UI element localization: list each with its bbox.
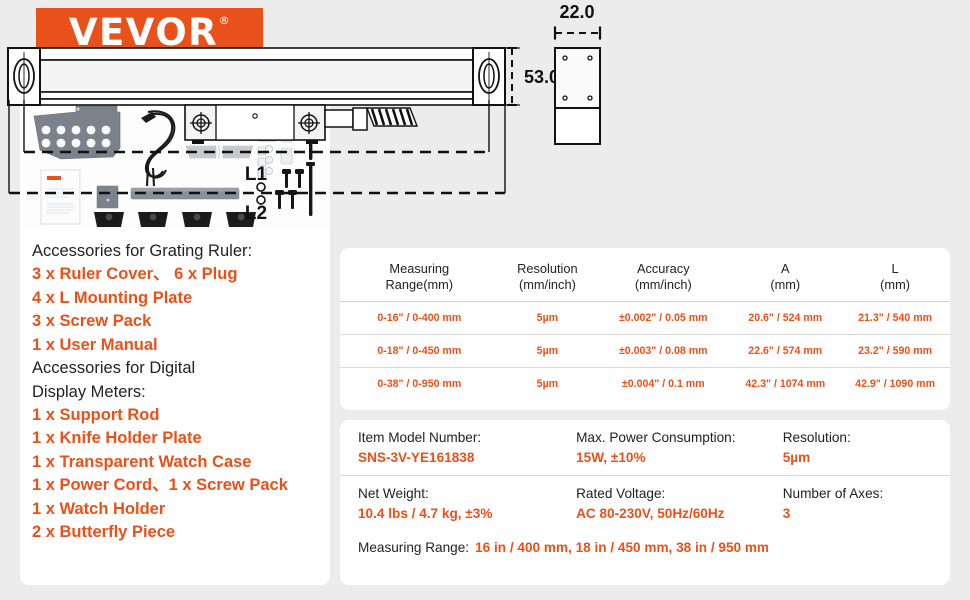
- list-item: 1 x Knife Holder Plate: [32, 427, 324, 450]
- column-header-accuracy: Accuracy (mm/inch): [596, 254, 730, 302]
- accessories-list: Accessories for Grating Ruler: 3 x Ruler…: [32, 240, 324, 544]
- list-item: 1 x Transparent Watch Case: [32, 451, 324, 474]
- dimension-L1-label: L1: [245, 164, 268, 185]
- list-item: 4 x L Mounting Plate: [32, 287, 324, 310]
- info-label: Item Model Number:: [358, 429, 576, 447]
- accessories-heading-digital-display-line2: Display Meters:: [32, 381, 324, 404]
- info-item-rated-voltage: Rated Voltage: AC 80-230V, 50Hz/60Hz: [576, 476, 783, 531]
- list-item: 1 x Support Rod: [32, 404, 324, 427]
- list-item: 1 x Watch Holder: [32, 498, 324, 521]
- dimension-width: 22.0: [555, 2, 600, 40]
- info-item-number-of-axes: Number of Axes: 3: [783, 476, 932, 531]
- scale-body: [8, 48, 505, 105]
- cell-measuring-range: 0-16" / 0-400 mm: [340, 302, 499, 335]
- dimension-height: 53.0: [505, 48, 559, 105]
- table-row: 0-16" / 0-400 mm 5µm ±0.002" / 0.05 mm 2…: [340, 302, 950, 335]
- accessories-heading-grating-ruler: Accessories for Grating Ruler:: [32, 240, 324, 263]
- cell-measuring-range: 0-38" / 0-950 mm: [340, 368, 499, 401]
- info-value: SNS-3V-YE161838: [358, 449, 576, 467]
- list-item: 3 x Ruler Cover、 6 x Plug: [32, 263, 324, 286]
- info-value: 3: [783, 505, 932, 523]
- info-value: 10.4 lbs / 4.7 kg, ±3%: [358, 505, 576, 523]
- cell-resolution: 5µm: [499, 368, 597, 401]
- cell-l: 21.3" / 540 mm: [840, 302, 950, 335]
- column-header-line1: A: [732, 261, 838, 277]
- cell-a: 22.6" / 574 mm: [730, 335, 840, 368]
- info-label: Resolution:: [783, 429, 932, 447]
- cell-accuracy: ±0.004" / 0.1 mm: [596, 368, 730, 401]
- product-info-card: Item Model Number: SNS-3V-YE161838 Max. …: [340, 420, 950, 585]
- column-header-line2: (mm/inch): [501, 277, 595, 293]
- cell-measuring-range: 0-18" / 0-450 mm: [340, 335, 499, 368]
- table-header-row: Measuring Range(mm) Resolution (mm/inch)…: [340, 254, 950, 302]
- specification-table-card: Measuring Range(mm) Resolution (mm/inch)…: [340, 248, 950, 410]
- dimension-width-label: 22.0: [559, 2, 594, 22]
- list-item: 1 x Power Cord、1 x Screw Pack: [32, 474, 324, 497]
- cell-accuracy: ±0.003" / 0.08 mm: [596, 335, 730, 368]
- column-header-resolution: Resolution (mm/inch): [499, 254, 597, 302]
- info-item-resolution: Resolution: 5µm: [783, 420, 932, 475]
- info-value: 16 in / 400 mm, 18 in / 450 mm, 38 in / …: [475, 540, 769, 555]
- end-view-bracket: [555, 48, 600, 144]
- cell-a: 42.3" / 1074 mm: [730, 368, 840, 401]
- table-row: 0-38" / 0-950 mm 5µm ±0.004" / 0.1 mm 42…: [340, 368, 950, 401]
- info-label: Measuring Range:: [358, 540, 469, 555]
- info-row-measuring-range: Measuring Range: 16 in / 400 mm, 18 in /…: [340, 531, 950, 555]
- info-row-1: Item Model Number: SNS-3V-YE161838 Max. …: [340, 420, 950, 475]
- dimension-height-label: 53.0: [524, 67, 559, 87]
- cell-accuracy: ±0.002" / 0.05 mm: [596, 302, 730, 335]
- cell-resolution: 5µm: [499, 335, 597, 368]
- column-header-measuring-range: Measuring Range(mm): [340, 254, 499, 302]
- info-item-power-consumption: Max. Power Consumption: 15W, ±10%: [576, 420, 783, 475]
- column-header-a: A (mm): [730, 254, 840, 302]
- cell-resolution: 5µm: [499, 302, 597, 335]
- specification-table: Measuring Range(mm) Resolution (mm/inch)…: [340, 254, 950, 400]
- column-header-l: L (mm): [840, 254, 950, 302]
- info-label: Net Weight:: [358, 485, 576, 503]
- column-header-line2: (mm/inch): [598, 277, 728, 293]
- info-value: 15W, ±10%: [576, 449, 783, 467]
- info-row-2: Net Weight: 10.4 lbs / 4.7 kg, ±3% Rated…: [340, 475, 950, 531]
- cell-a: 20.6" / 524 mm: [730, 302, 840, 335]
- info-item-model-number: Item Model Number: SNS-3V-YE161838: [358, 420, 576, 475]
- column-header-line1: Accuracy: [598, 261, 728, 277]
- list-item: 1 x User Manual: [32, 334, 324, 357]
- info-label: Rated Voltage:: [576, 485, 783, 503]
- dimension-L2-label: L2: [245, 203, 267, 224]
- column-header-line2: Range(mm): [342, 277, 497, 293]
- column-header-line1: L: [842, 261, 948, 277]
- cable-strain-relief: [367, 108, 417, 126]
- accessories-heading-digital-display-line1: Accessories for Digital: [32, 357, 324, 380]
- info-label: Number of Axes:: [783, 485, 932, 503]
- cell-l: 23.2" / 590 mm: [840, 335, 950, 368]
- reader-head: [185, 105, 367, 144]
- linear-scale-drawing: L1 L2 53.0: [0, 0, 610, 225]
- column-header-line1: Resolution: [501, 261, 595, 277]
- column-header-line1: Measuring: [342, 261, 497, 277]
- info-value: 5µm: [783, 449, 932, 467]
- info-label: Max. Power Consumption:: [576, 429, 783, 447]
- cell-l: 42.9" / 1090 mm: [840, 368, 950, 401]
- info-value: AC 80-230V, 50Hz/60Hz: [576, 505, 783, 523]
- list-item: 2 x Butterfly Piece: [32, 521, 324, 544]
- column-header-line2: (mm): [842, 277, 948, 293]
- info-item-net-weight: Net Weight: 10.4 lbs / 4.7 kg, ±3%: [358, 476, 576, 531]
- list-item: 3 x Screw Pack: [32, 310, 324, 333]
- column-header-line2: (mm): [732, 277, 838, 293]
- right-end-cap: [473, 48, 505, 105]
- table-row: 0-18" / 0-450 mm 5µm ±0.003" / 0.08 mm 2…: [340, 335, 950, 368]
- left-end-cap: [8, 48, 40, 105]
- technical-drawing-card: L1 L2 53.0: [0, 0, 610, 225]
